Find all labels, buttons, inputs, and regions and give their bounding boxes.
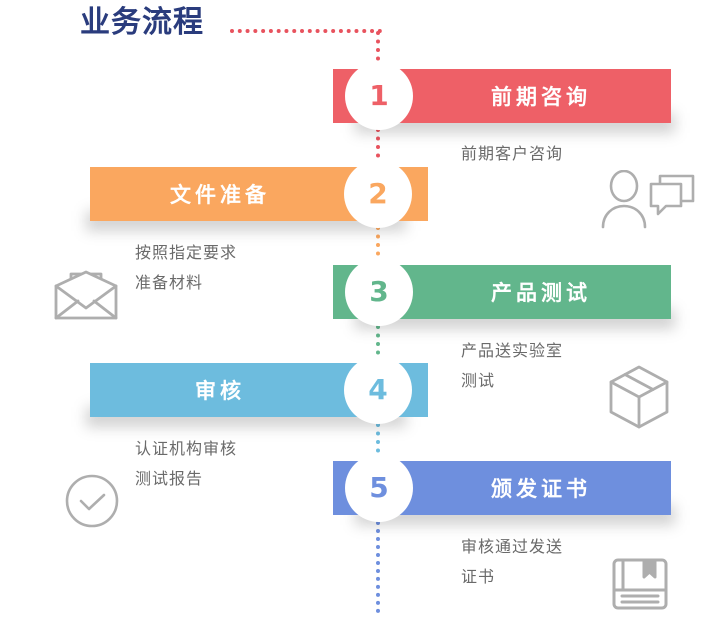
connector-title-to-step1 bbox=[230, 29, 382, 33]
consultation-person-chat-icon bbox=[600, 170, 696, 230]
step-4-description: 认证机构审核 测试报告 bbox=[135, 434, 355, 494]
step-5-badge[interactable]: 5 bbox=[345, 454, 413, 522]
step-3-badge[interactable]: 3 bbox=[345, 258, 413, 326]
package-box-icon bbox=[608, 364, 670, 430]
step-2-description: 按照指定要求 准备材料 bbox=[135, 238, 355, 298]
step-1-description: 前期客户咨询 bbox=[461, 139, 681, 169]
step-1-number: 1 bbox=[345, 62, 413, 130]
check-circle-icon bbox=[64, 473, 120, 529]
step-4-number: 4 bbox=[344, 356, 412, 424]
step-2-badge[interactable]: 2 bbox=[344, 160, 412, 228]
page-title: 业务流程 bbox=[80, 3, 204, 43]
open-envelope-icon bbox=[52, 266, 120, 324]
step-3-number: 3 bbox=[345, 258, 413, 326]
step-2-number: 2 bbox=[344, 160, 412, 228]
certificate-book-icon bbox=[611, 557, 669, 611]
step-1[interactable]: 前期咨询 1 bbox=[333, 69, 671, 123]
step-5[interactable]: 颁发证书 5 bbox=[333, 461, 671, 515]
step-4-badge[interactable]: 4 bbox=[344, 356, 412, 424]
step-3[interactable]: 产品测试 3 bbox=[333, 265, 671, 319]
connector-step5-tail bbox=[376, 521, 384, 613]
flowchart-canvas: 业务流程 前期咨询 1 前期客户咨询 文件准备 2 按照指定要求 准备材料 bbox=[0, 0, 701, 618]
step-5-number: 5 bbox=[345, 454, 413, 522]
step-1-badge[interactable]: 1 bbox=[345, 62, 413, 130]
step-4[interactable]: 审核 4 bbox=[90, 363, 428, 417]
step-2[interactable]: 文件准备 2 bbox=[90, 167, 428, 221]
